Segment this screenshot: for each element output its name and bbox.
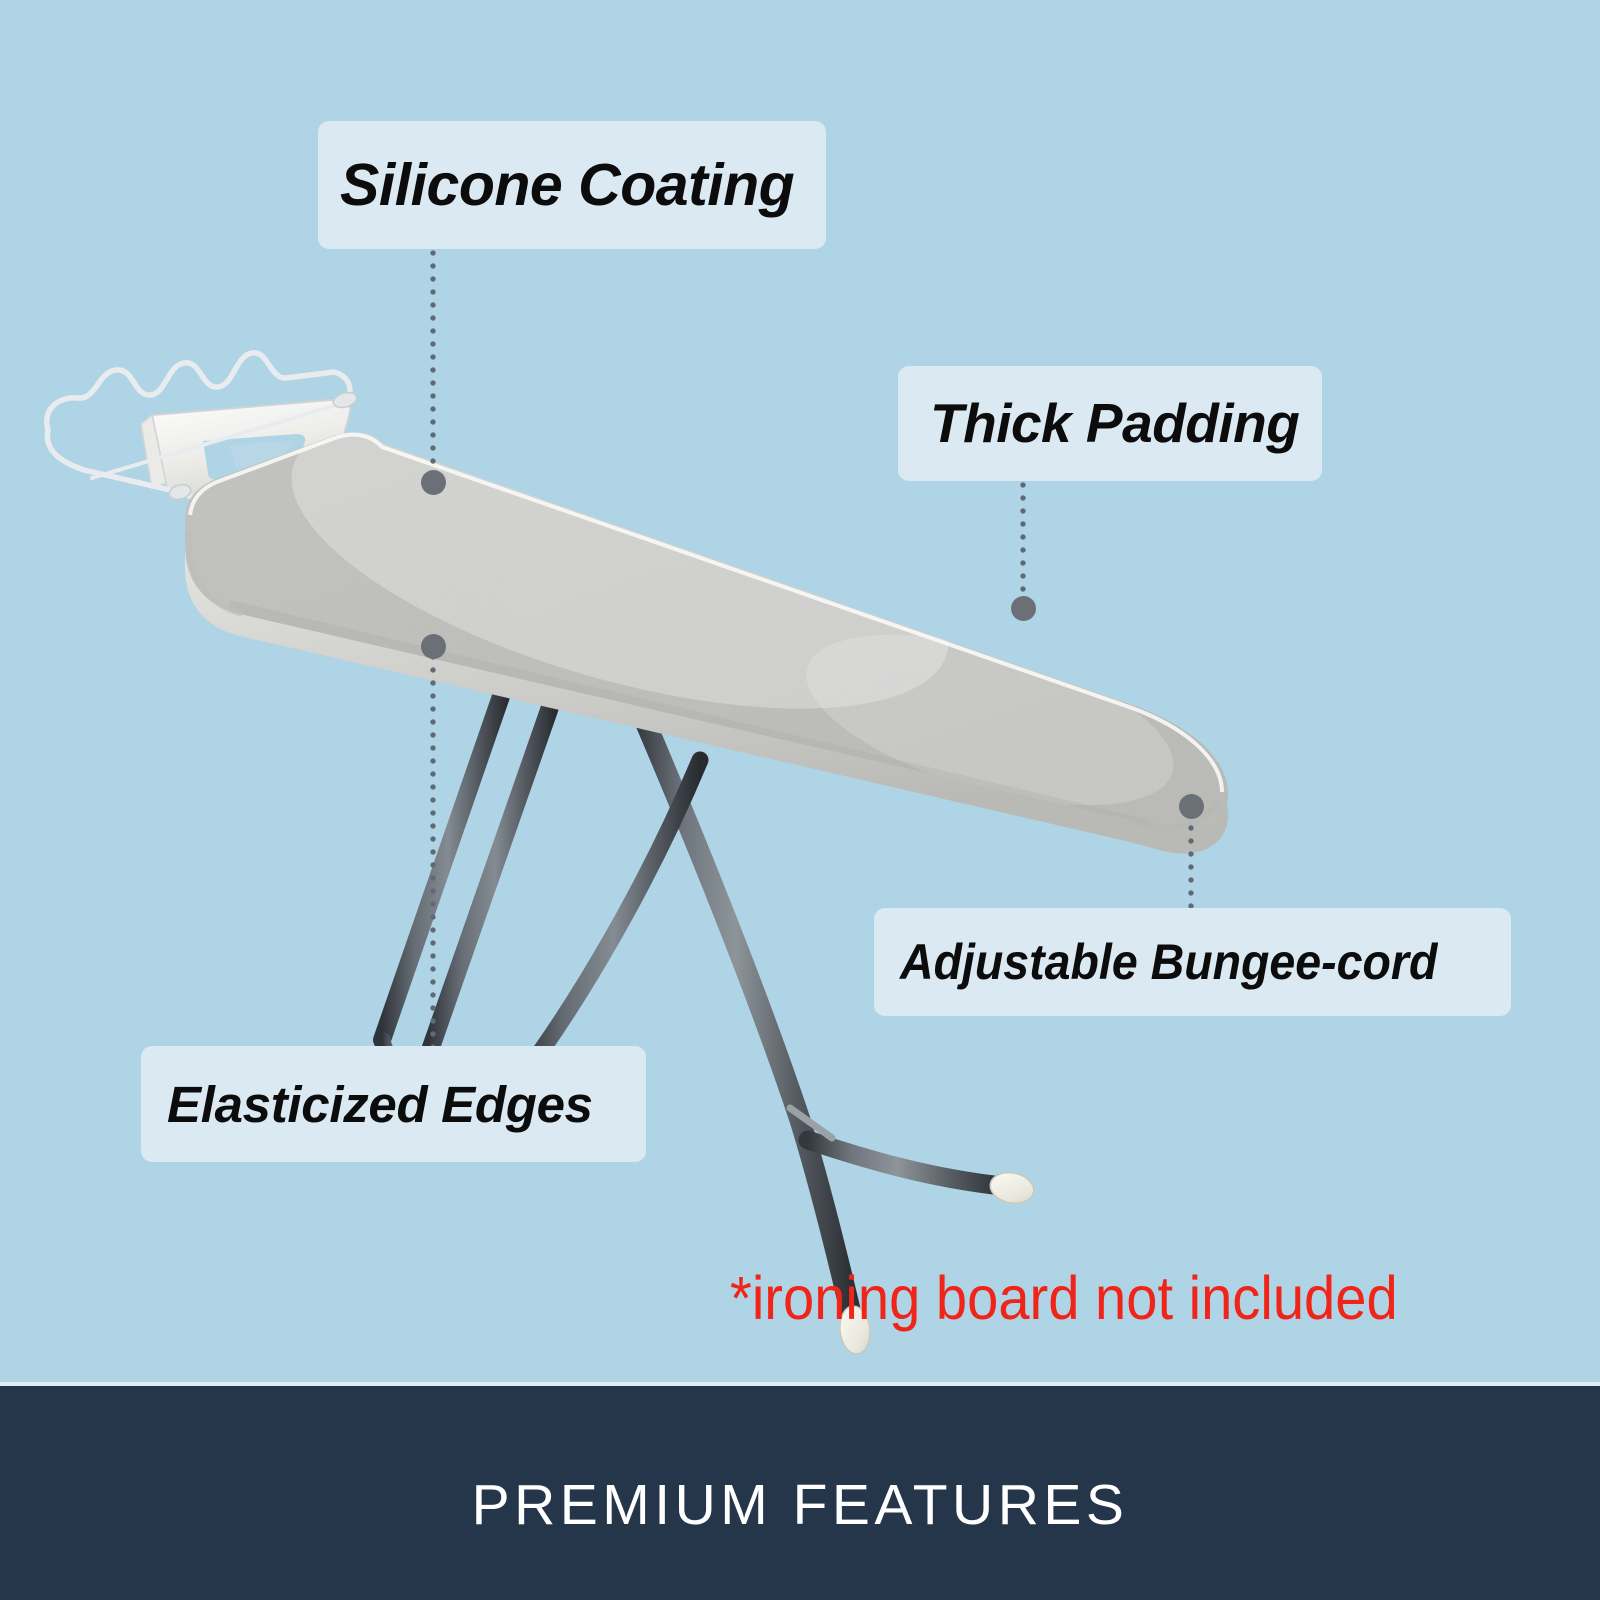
premium-features-banner: PREMIUM FEATURES <box>0 1386 1600 1600</box>
callout-silicone-coating: Silicone Coating <box>318 121 826 249</box>
anchor-dot-thick-padding <box>1011 596 1036 621</box>
anchor-dot-silicone-coating <box>421 470 446 495</box>
anchor-dot-adjustable-bungee-cord <box>1179 794 1204 819</box>
anchor-dot-elasticized-edges <box>421 634 446 659</box>
leader-line-adjustable-bungee-cord <box>1188 812 1194 910</box>
banner-title: PREMIUM FEATURES <box>472 1453 1129 1534</box>
disclaimer-text: *ironing board not included <box>730 1268 1398 1329</box>
callout-label-adjustable-bungee-cord: Adjustable Bungee-cord <box>900 937 1437 987</box>
callout-label-silicone-coating: Silicone Coating <box>340 156 794 215</box>
leader-line-silicone-coating <box>430 250 436 478</box>
leader-line-thick-padding <box>1020 482 1026 610</box>
callout-adjustable-bungee-cord: Adjustable Bungee-cord <box>874 908 1511 1016</box>
callout-elasticized-edges: Elasticized Edges <box>141 1046 646 1162</box>
leader-line-elasticized-edges <box>430 654 436 1048</box>
callout-label-elasticized-edges: Elasticized Edges <box>167 1079 593 1130</box>
infographic-canvas: Silicone Coating Thick Padding Adjustabl… <box>0 0 1600 1600</box>
callout-label-thick-padding: Thick Padding <box>930 396 1299 451</box>
callout-thick-padding: Thick Padding <box>898 366 1322 481</box>
